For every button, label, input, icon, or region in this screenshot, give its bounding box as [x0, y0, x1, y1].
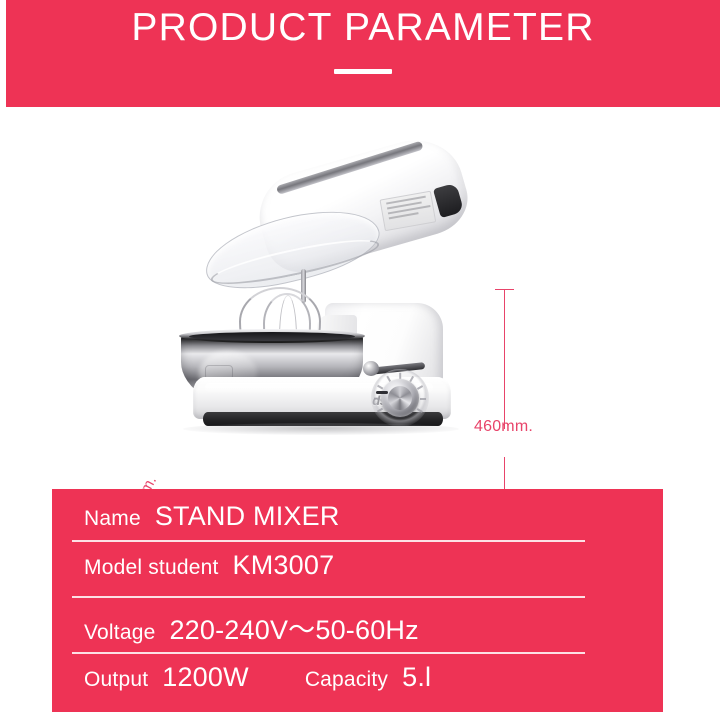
spec-value-model: KM3007 — [233, 550, 335, 581]
height-dimension-line-upper — [504, 289, 505, 429]
page-title: PRODUCT PARAMETER — [6, 4, 720, 52]
spec-key-output: Output — [84, 668, 148, 692]
spec-key-voltage: Voltage — [84, 621, 155, 645]
spec-value-voltage: 220-240V～50-60Hz — [169, 608, 418, 647]
specification-table: Name STAND MIXER Model student KM3007 Vo… — [52, 489, 663, 712]
product-photo-area: dsp 460mm. — [0, 107, 720, 480]
title-underline-dash — [334, 69, 392, 74]
table-row-output-capacity: Output 1200W Capacity 5.l — [52, 654, 663, 708]
speed-dial-pointer — [376, 391, 388, 394]
table-row-voltage: Voltage 220-240V～50-60Hz — [52, 598, 663, 654]
bowl-rim-inner — [189, 332, 355, 341]
spec-key-capacity: Capacity — [305, 668, 388, 692]
product-parameter-page: PRODUCT PARAMETER — [0, 0, 720, 720]
height-dimension-label: 460mm. — [474, 418, 533, 436]
spec-key-model: Model student — [84, 556, 219, 580]
header-banner: PRODUCT PARAMETER — [6, 0, 720, 107]
table-row-model: Model student KM3007 — [52, 542, 663, 598]
speed-control-dial-core — [388, 386, 412, 410]
table-row-name: Name STAND MIXER — [52, 489, 663, 542]
spec-value-name: STAND MIXER — [155, 501, 340, 532]
spec-value-capacity: 5.l — [402, 662, 431, 693]
spec-value-output: 1200W — [162, 662, 249, 693]
stand-mixer-product-image: dsp — [175, 165, 475, 455]
spec-key-name: Name — [84, 507, 141, 531]
